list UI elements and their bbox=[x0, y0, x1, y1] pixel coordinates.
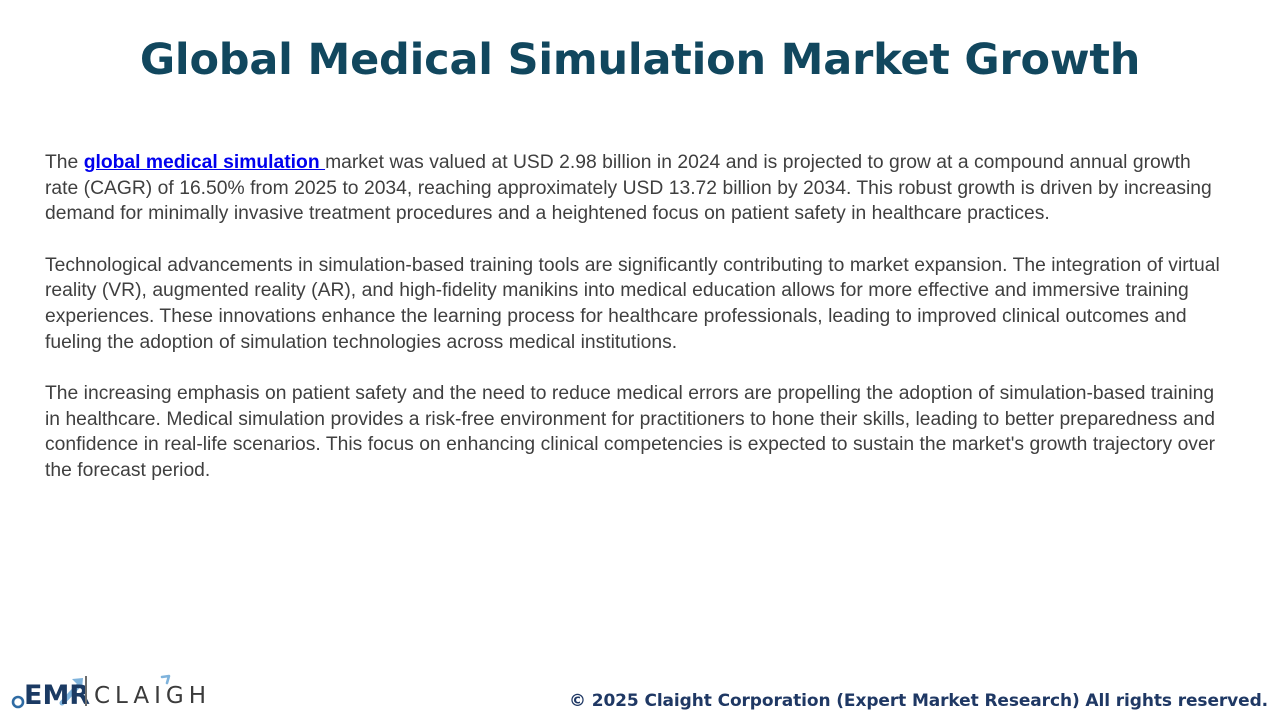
title-container: Global Medical Simulation Market Growth bbox=[0, 36, 1280, 85]
page-title: Global Medical Simulation Market Growth bbox=[140, 36, 1140, 85]
logo-divider bbox=[85, 676, 87, 706]
logo-claight-text: CLAIGHT bbox=[94, 683, 210, 709]
logo-ring-icon bbox=[13, 697, 23, 707]
emr-claight-logo[interactable]: EMR CLAIGHT bbox=[10, 672, 210, 712]
paragraph-3: The increasing emphasis on patient safet… bbox=[45, 381, 1225, 483]
copyright-notice: © 2025 Claight Corporation (Expert Marke… bbox=[569, 690, 1268, 712]
logo-check-icon bbox=[162, 676, 169, 683]
paragraph-1: The global medical simulation market was… bbox=[45, 150, 1225, 227]
body-content: The global medical simulation market was… bbox=[45, 150, 1225, 484]
slide-root: Global Medical Simulation Market Growth … bbox=[0, 0, 1280, 720]
paragraph-2: Technological advancements in simulation… bbox=[45, 253, 1225, 355]
global-medical-simulation-link[interactable]: global medical simulation bbox=[84, 152, 325, 173]
footer: EMR CLAIGHT © 2025 Claight Corporation (… bbox=[0, 660, 1280, 720]
logo-svg: EMR CLAIGHT bbox=[10, 670, 210, 712]
logo-emr-text: EMR bbox=[24, 680, 90, 711]
paragraph-1-lead: The bbox=[45, 152, 84, 173]
